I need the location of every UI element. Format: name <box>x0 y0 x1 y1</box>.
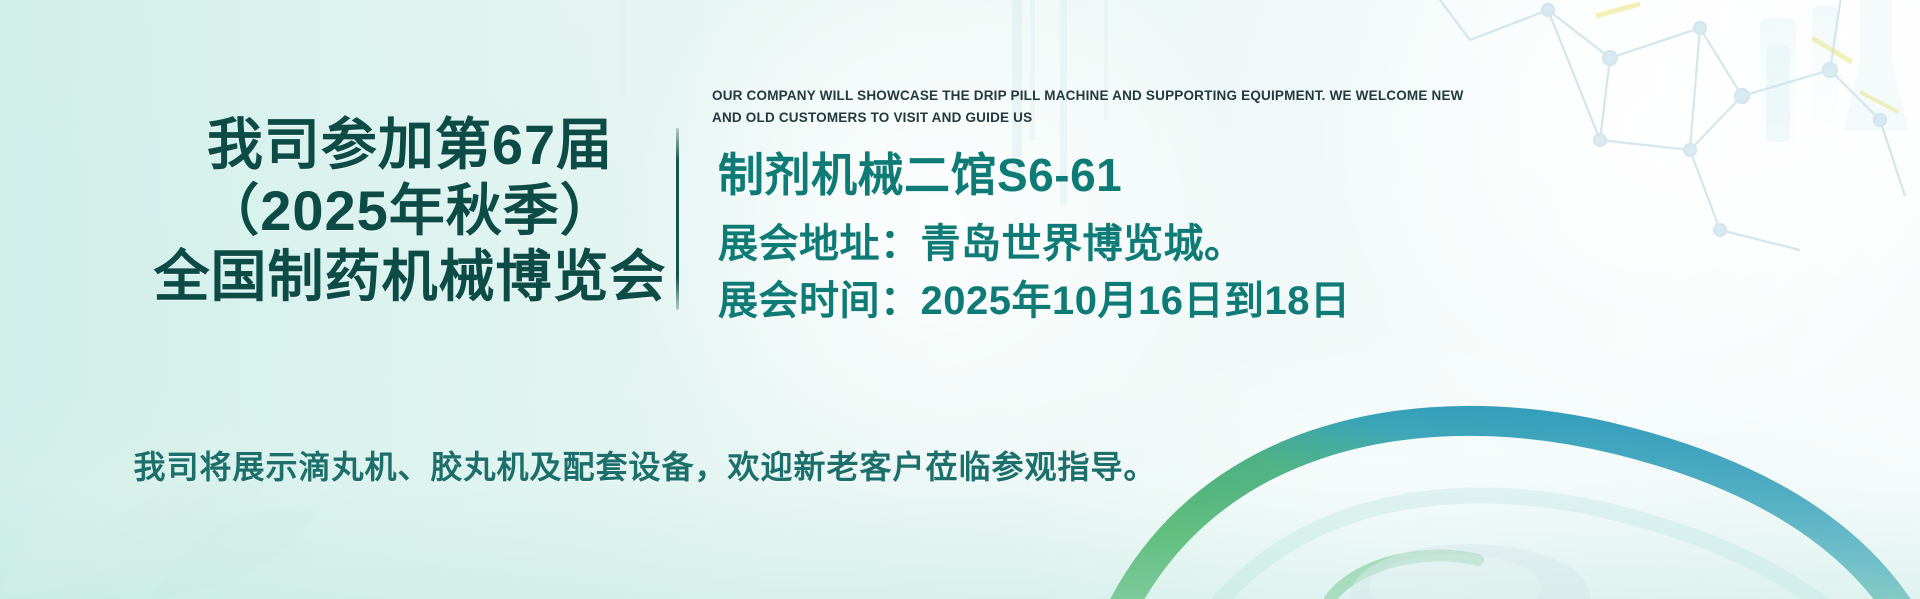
vertical-divider <box>676 128 679 310</box>
bottom-mint-veil <box>0 389 1920 599</box>
headline-line-3: 全国制药机械博览会 <box>150 244 670 310</box>
exhibition-date: 展会时间：2025年10月16日到18日 <box>718 273 1718 330</box>
pale-sphere-decoration <box>1350 544 1590 599</box>
lattice-highlight-accents <box>1596 4 1898 112</box>
headline-line-1: 我司参加第67届 <box>150 112 670 178</box>
english-subtitle: OUR COMPANY WILL SHOWCASE THE DRIP PILL … <box>712 85 1472 129</box>
exhibition-address: 展会地址：青岛世界博览城。 <box>718 216 1718 273</box>
booth-number: 制剂机械二馆S6-61 <box>718 148 1718 202</box>
page-title: 我司参加第67届 （2025年秋季） 全国制药机械博览会 <box>150 112 670 310</box>
exhibition-details: 制剂机械二馆S6-61 展会地址：青岛世界博览城。 展会时间：2025年10月1… <box>718 148 1718 330</box>
lab-glassware-icon <box>1760 0 1908 150</box>
headline-line-2: （2025年秋季） <box>150 178 670 244</box>
exhibition-banner: 我司参加第67届 （2025年秋季） 全国制药机械博览会 OUR COMPANY… <box>0 0 1920 599</box>
banner-caption: 我司将展示滴丸机、胶丸机及配套设备，欢迎新老客户莅临参观指导。 <box>0 442 1290 488</box>
